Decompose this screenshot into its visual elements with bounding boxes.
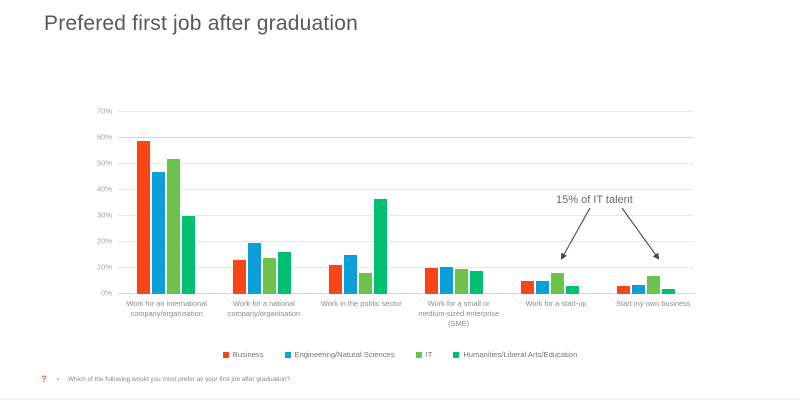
legend-item[interactable]: IT — [416, 350, 433, 359]
legend-item[interactable]: Business — [223, 350, 264, 359]
bar[interactable] — [647, 276, 660, 294]
slide-canvas: Prefered first job after graduation 0%10… — [0, 0, 800, 400]
legend-item[interactable]: Humanities/Liberal Arts/Education — [453, 350, 577, 359]
bar-group — [310, 112, 406, 294]
legend-label: Engineering/Natural Sciences — [295, 350, 395, 359]
legend-label: IT — [426, 350, 433, 359]
bar[interactable] — [440, 267, 453, 294]
y-axis-tick-label: 50% — [97, 159, 112, 168]
x-axis-label: Work for an international company/organi… — [118, 299, 215, 329]
bar[interactable] — [566, 286, 579, 294]
page-title: Prefered first job after graduation — [44, 12, 358, 36]
footnote-text: Which of the following would you most pr… — [68, 376, 290, 383]
bar[interactable] — [536, 281, 549, 294]
bar[interactable] — [248, 243, 261, 294]
bar[interactable] — [344, 255, 357, 294]
bar-group — [406, 112, 502, 294]
footnote: ? • Which of the following would you mos… — [40, 374, 290, 384]
bar[interactable] — [662, 289, 675, 294]
x-axis-label: Start my own business — [605, 299, 702, 329]
bar[interactable] — [233, 260, 246, 294]
bar[interactable] — [632, 285, 645, 294]
bar[interactable] — [359, 273, 372, 294]
bar[interactable] — [137, 141, 150, 294]
bar[interactable] — [521, 281, 534, 294]
y-axis-tick-label: 40% — [97, 185, 112, 194]
legend-label: Humanities/Liberal Arts/Education — [463, 350, 577, 359]
bar[interactable] — [551, 273, 564, 294]
y-axis-tick-label: 20% — [97, 237, 112, 246]
y-axis-tick-label: 10% — [97, 263, 112, 272]
x-axis-labels: Work for an international company/organi… — [118, 299, 702, 329]
bar[interactable] — [425, 268, 438, 294]
y-axis-tick-label: 70% — [97, 107, 112, 116]
x-axis-label: Work in the public sector — [313, 299, 410, 329]
bar[interactable] — [374, 199, 387, 294]
bar[interactable] — [455, 269, 468, 294]
y-axis-tick-label: 30% — [97, 211, 112, 220]
bullet-icon: • — [55, 375, 61, 384]
bar[interactable] — [470, 271, 483, 294]
bar[interactable] — [329, 265, 342, 294]
legend-label: Business — [233, 350, 264, 359]
legend-swatch-icon — [453, 352, 459, 358]
legend-swatch-icon — [285, 352, 291, 358]
bar[interactable] — [152, 172, 165, 294]
bar[interactable] — [167, 159, 180, 294]
chart-legend: BusinessEngineering/Natural SciencesITHu… — [0, 350, 800, 359]
legend-swatch-icon — [416, 352, 422, 358]
bar-group — [118, 112, 214, 294]
x-axis-label: Work for a small or medium-sized enterpr… — [410, 299, 507, 329]
y-axis-tick-label: 0% — [101, 289, 112, 298]
legend-item[interactable]: Engineering/Natural Sciences — [285, 350, 395, 359]
bar[interactable] — [278, 252, 291, 294]
bar[interactable] — [263, 258, 276, 294]
callout-annotation: 15% of IT talent — [556, 194, 633, 206]
bar-group — [214, 112, 310, 294]
question-mark-icon: ? — [40, 374, 48, 384]
bar[interactable] — [617, 286, 630, 294]
legend-swatch-icon — [223, 352, 229, 358]
bar[interactable] — [182, 216, 195, 294]
x-axis-label: Work for a start-up — [507, 299, 604, 329]
y-axis-tick-label: 60% — [97, 133, 112, 142]
x-axis-label: Work for a national company/organisation — [215, 299, 312, 329]
